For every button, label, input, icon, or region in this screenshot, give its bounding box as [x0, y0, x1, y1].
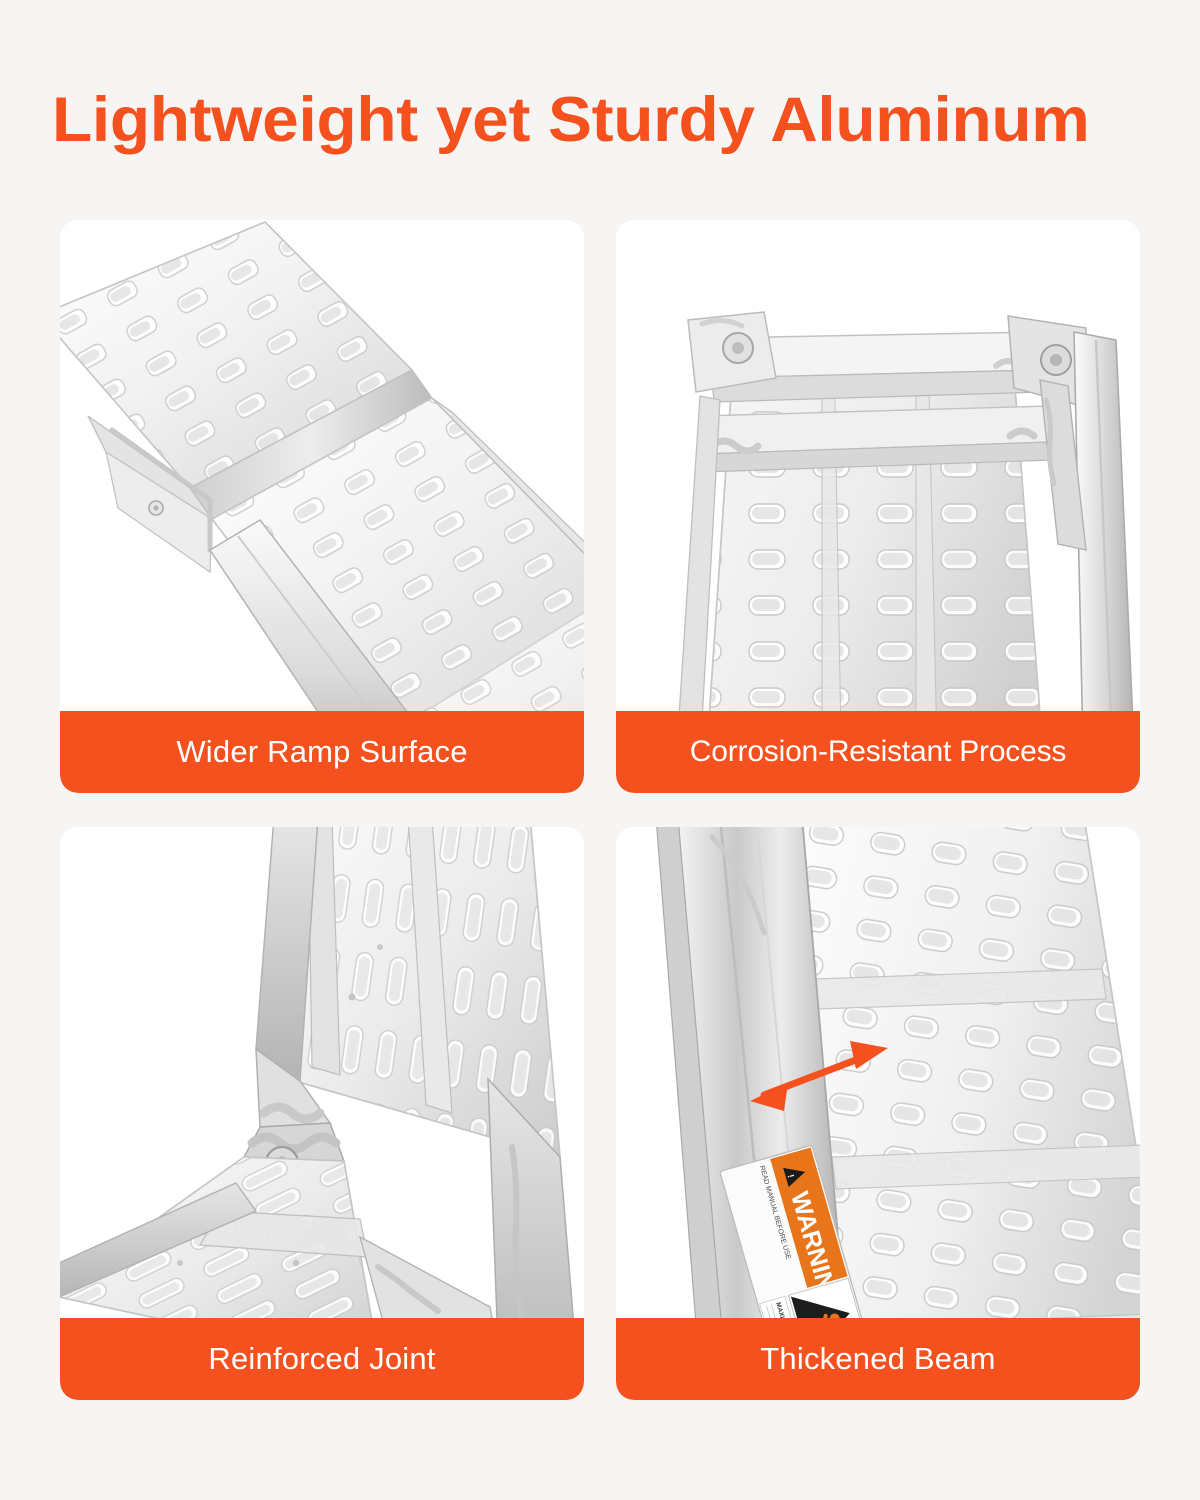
- product-photo-wider-ramp-surface: [60, 220, 584, 793]
- product-photo-reinforced-joint: [60, 827, 584, 1400]
- product-photo-corrosion-resistant-process: [616, 220, 1140, 793]
- feature-caption-thickened-beam: Thickened Beam: [616, 1318, 1140, 1400]
- feature-caption-reinforced-joint: Reinforced Joint: [60, 1318, 584, 1400]
- feature-card-thickened-beam[interactable]: ! WARNING READ MANUAL BEFORE USE MAXIMUM…: [616, 827, 1140, 1400]
- feature-caption-corrosion-resistant-process: Corrosion-Resistant Process: [616, 711, 1140, 793]
- product-photo-thickened-beam: ! WARNING READ MANUAL BEFORE USE MAXIMUM…: [616, 827, 1140, 1400]
- infographic-page: Lightweight yet Sturdy Aluminum: [0, 0, 1200, 1500]
- feature-card-corrosion-resistant-process[interactable]: Corrosion-Resistant Process: [616, 220, 1140, 793]
- feature-card-wider-ramp-surface[interactable]: Wider Ramp Surface: [60, 220, 584, 793]
- feature-card-reinforced-joint[interactable]: Reinforced Joint: [60, 827, 584, 1400]
- page-title: Lightweight yet Sturdy Aluminum: [52, 84, 1200, 156]
- feature-card-grid: Wider Ramp Surface: [60, 220, 1140, 1400]
- feature-caption-wider-ramp-surface: Wider Ramp Surface: [60, 711, 584, 793]
